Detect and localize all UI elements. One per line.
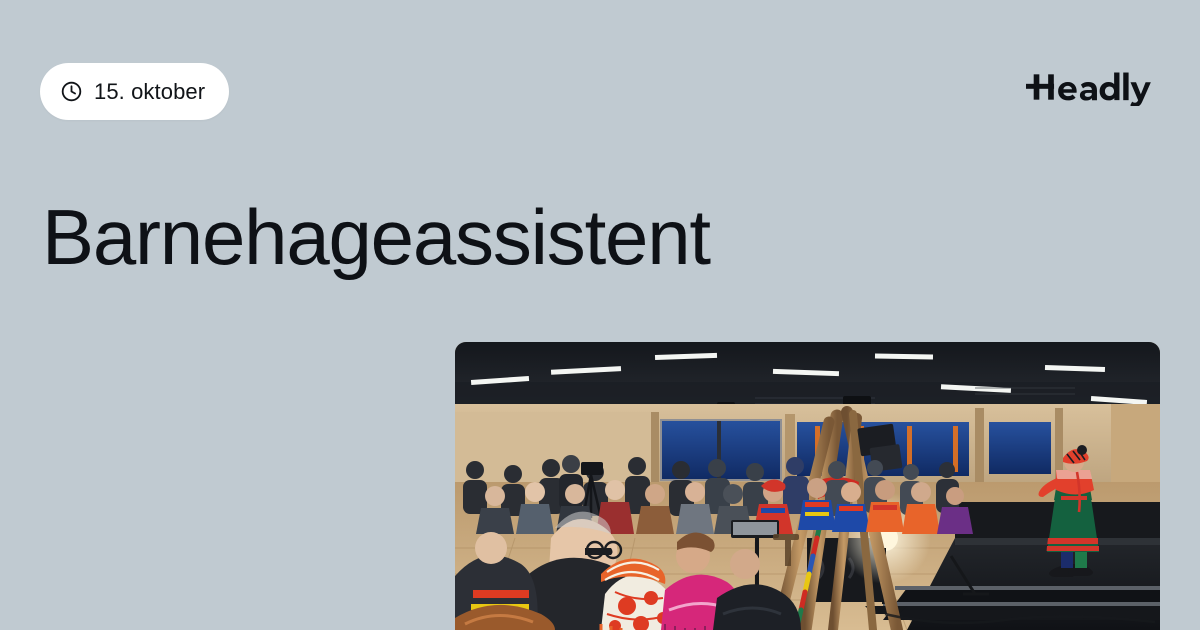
- audience-photo-illustration: [455, 342, 1160, 630]
- page-title: Barnehageassistent: [42, 196, 710, 279]
- article-photo: [455, 342, 1160, 630]
- date-label: 15. oktober: [94, 79, 205, 105]
- headly-logo[interactable]: Headly: [1026, 68, 1162, 106]
- date-badge: 15. oktober: [40, 63, 229, 120]
- clock-icon: [60, 80, 83, 103]
- headly-wordmark-icon: [1026, 68, 1162, 106]
